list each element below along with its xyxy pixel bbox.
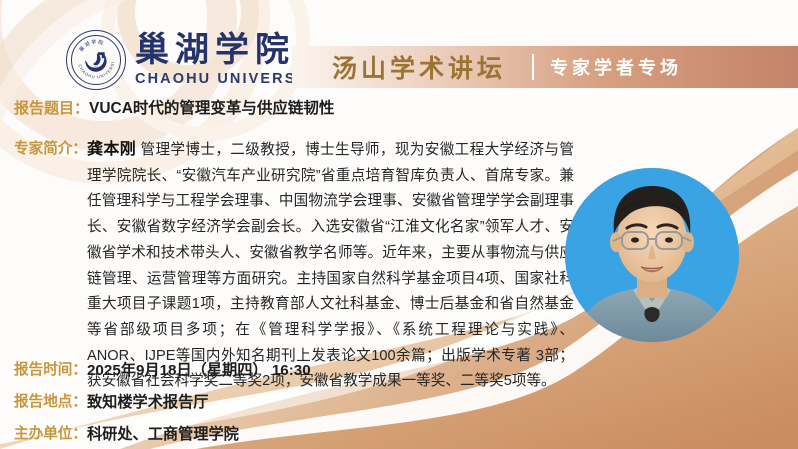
bio-row: 专家简介： 龚本刚 管理学博士，二级教授，博士生导师，现为安徽工程大学经济与管理…: [14, 137, 574, 395]
svg-text:1977: 1977: [92, 66, 98, 70]
bio-text: 龚本刚 管理学博士，二级教授，博士生导师，现为安徽工程大学经济与管理学院院长、“…: [87, 137, 574, 395]
speaker-portrait: [565, 168, 739, 342]
lecture-poster: 巢湖学院 CHAOHU UNIVERSITY 1977 巢湖学院 CHAOHU …: [0, 0, 798, 449]
speaker-name: 龚本刚: [87, 141, 136, 158]
brand-lockup: 巢湖学院 CHAOHU UNIVERSITY 1977 巢湖学院 CHAOHU …: [66, 30, 325, 90]
time-value: 2025年9月18日（星期四） 16:30: [87, 358, 311, 380]
time-row: 报告时间： 2025年9月18日（星期四） 16:30: [14, 358, 311, 380]
topic-label: 报告题目：: [14, 99, 89, 119]
banner-title: 汤山学术讲坛: [332, 49, 506, 85]
host-label: 主办单位：: [14, 422, 87, 443]
banner-subtitle: 专家学者专场: [550, 54, 682, 80]
university-seal-icon: 巢湖学院 CHAOHU UNIVERSITY 1977: [66, 30, 126, 90]
poster-header: 巢湖学院 CHAOHU UNIVERSITY 1977 巢湖学院 CHAOHU …: [0, 0, 798, 100]
svg-text:CHAOHU UNIVERSITY: CHAOHU UNIVERSITY: [67, 31, 115, 79]
bio-paragraph: 管理学博士，二级教授，博士生导师，现为安徽工程大学经济与管理学院院长、“安徽汽车…: [87, 142, 574, 389]
bio-label: 专家简介：: [14, 137, 87, 163]
time-label: 报告时间：: [14, 358, 87, 379]
topic-value: VUCA时代的管理变革与供应链韧性: [89, 99, 334, 119]
place-label: 报告地点：: [14, 390, 87, 411]
banner-divider-icon: [532, 54, 534, 80]
svg-text:巢湖学院: 巢湖学院: [78, 38, 106, 53]
host-row: 主办单位： 科研处、工商管理学院: [14, 422, 239, 444]
place-row: 报告地点： 致知楼学术报告厅: [14, 390, 208, 412]
place-value: 致知楼学术报告厅: [87, 390, 209, 412]
topic-row: 报告题目： VUCA时代的管理变革与供应链韧性: [14, 99, 334, 119]
host-value: 科研处、工商管理学院: [87, 422, 239, 444]
lecture-banner: 汤山学术讲坛 专家学者专场: [292, 46, 798, 88]
